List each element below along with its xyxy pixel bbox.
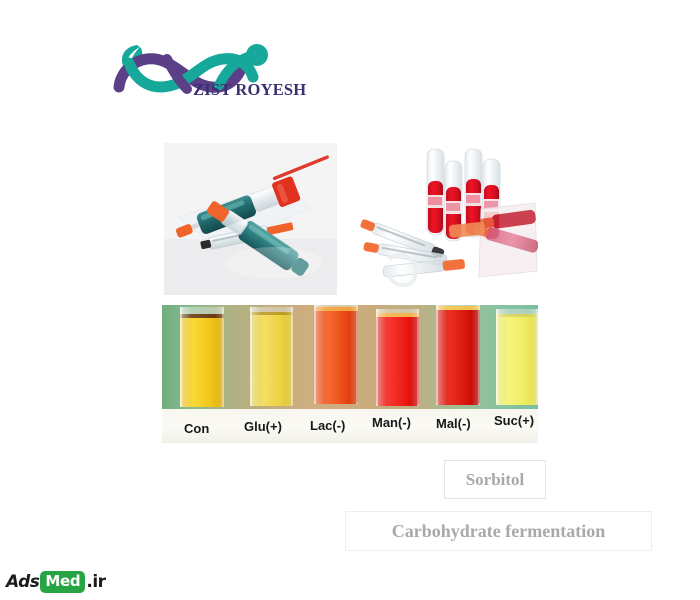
tube-mal: [436, 305, 480, 405]
fermentation-label-band: Con Glu(+) Lac(-) Man(-) Mal(-) Suc(+): [162, 409, 538, 443]
sorbitol-callout-box: Sorbitol: [444, 460, 546, 499]
tube-label-con: Con: [184, 421, 209, 436]
watermark-med-text: Med: [45, 572, 80, 590]
sorbitol-label: Sorbitol: [466, 470, 525, 490]
watermark-med-badge: Med: [40, 571, 85, 593]
tube-label-suc: Suc(+): [494, 413, 534, 428]
carbohydrate-fermentation-label: Carbohydrate fermentation: [392, 521, 605, 542]
tube-man: [376, 309, 419, 406]
carbohydrate-fermentation-photo: Con Glu(+) Lac(-) Man(-) Mal(-) Suc(+): [162, 305, 538, 443]
fermentation-tube-rack: [162, 305, 538, 413]
tube-label-mal: Mal(-): [436, 416, 471, 431]
carbohydrate-fermentation-callout-box: Carbohydrate fermentation: [345, 511, 652, 551]
watermark-tld-text: .ir: [86, 572, 105, 592]
tube-label-glu: Glu(+): [244, 419, 282, 434]
fermentation-tubes-illustration: [162, 305, 538, 413]
tube-label-lac: Lac(-): [310, 418, 345, 433]
syringes-illustration: [164, 143, 337, 295]
tube-suc: [496, 309, 538, 405]
brand-logo: ZIST ROYESH: [107, 33, 295, 105]
logo-wordmark: ZIST ROYESH: [193, 80, 306, 100]
tube-glu: [250, 307, 293, 406]
tube-con: [180, 307, 224, 407]
red-tubes-illustration: [353, 143, 538, 295]
red-broth-tubes-photo: [353, 143, 538, 295]
page-root: ZIST ROYESH: [0, 0, 700, 600]
tube-label-man: Man(-): [372, 415, 411, 430]
insulin-syringes-photo: [164, 143, 337, 295]
watermark-ads-text: Ads: [6, 572, 39, 592]
adsmed-watermark: Ads Med .ir: [6, 570, 106, 594]
tube-lac: [314, 305, 358, 404]
